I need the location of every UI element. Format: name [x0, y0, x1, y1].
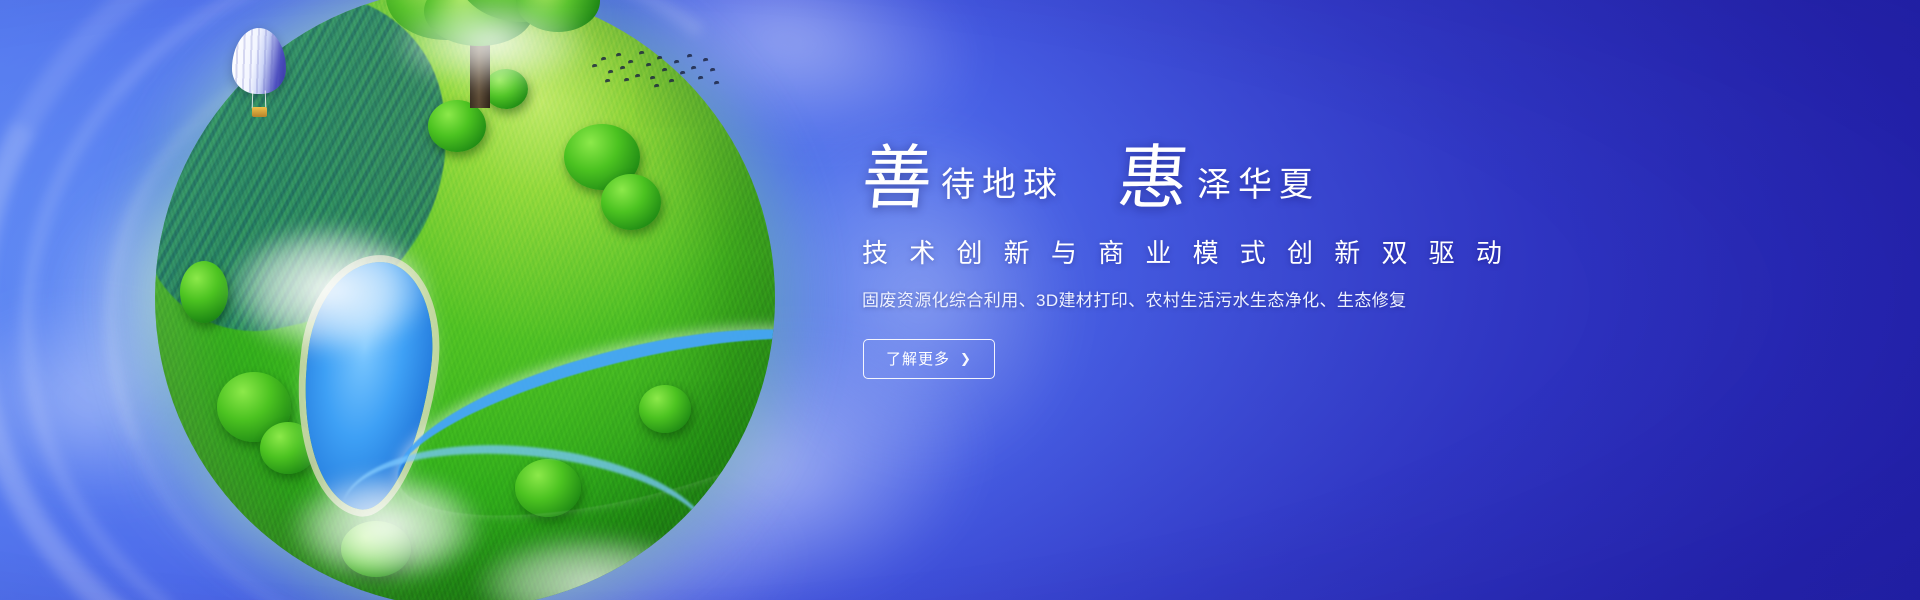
bird-icon	[592, 64, 598, 68]
bird-icon	[669, 79, 675, 83]
tree-bush	[180, 261, 228, 323]
headline-phrase-2: 惠 泽华夏	[1118, 148, 1320, 212]
hero-description: 固废资源化综合利用、3D建材打印、农村生活污水生态净化、生态修复	[862, 289, 1562, 313]
headline-brush-char-2: 惠	[1115, 148, 1191, 212]
large-tree-icon	[366, 0, 596, 110]
bird-icon	[710, 68, 716, 72]
bird-icon	[691, 66, 697, 70]
hot-air-balloon-icon	[232, 28, 286, 124]
surface-cloud	[291, 472, 481, 582]
bird-icon	[628, 60, 634, 64]
bird-icon	[654, 84, 660, 88]
hero-content: 善 待地球 惠 泽华夏 技 术 创 新 与 商 业 模 式 创 新 双 驱 动 …	[862, 128, 1562, 379]
headline-phrase-1: 善 待地球	[862, 148, 1064, 212]
headline-rest-2: 泽华夏	[1197, 169, 1320, 212]
bird-flock-icon	[590, 48, 720, 92]
bird-icon	[680, 71, 686, 75]
hero-tagline: 技 术 创 新 与 商 业 模 式 创 新 双 驱 动	[862, 238, 1562, 269]
bird-icon	[608, 70, 614, 74]
surface-cloud	[229, 224, 429, 354]
bird-icon	[662, 68, 668, 72]
headline-rest-1: 待地球	[941, 169, 1064, 212]
bird-icon	[714, 81, 720, 85]
learn-more-label: 了解更多	[886, 348, 950, 369]
bird-icon	[601, 57, 607, 61]
balloon-ropes	[252, 90, 267, 108]
hero-banner: 善 待地球 惠 泽华夏 技 术 创 新 与 商 业 模 式 创 新 双 驱 动 …	[0, 0, 1920, 600]
bird-icon	[635, 74, 641, 78]
bird-icon	[657, 56, 663, 60]
bird-icon	[639, 51, 645, 55]
bird-icon	[674, 60, 680, 64]
bird-icon	[616, 53, 622, 57]
bird-icon	[703, 58, 709, 62]
balloon-envelope	[232, 28, 286, 94]
bird-icon	[620, 66, 626, 70]
headline-brush-char-1: 善	[859, 148, 935, 212]
bird-icon	[687, 54, 693, 58]
tree-bush	[601, 174, 661, 230]
bird-icon	[646, 63, 652, 67]
learn-more-button[interactable]: 了解更多 ❯	[863, 339, 995, 379]
tree-mist	[396, 0, 586, 88]
bird-icon	[698, 76, 704, 80]
bird-icon	[624, 78, 630, 82]
chevron-right-icon: ❯	[960, 352, 972, 365]
page-title: 善 待地球 惠 泽华夏	[862, 128, 1562, 212]
bird-icon	[650, 76, 656, 80]
balloon-basket	[252, 107, 267, 117]
bird-icon	[605, 79, 611, 83]
